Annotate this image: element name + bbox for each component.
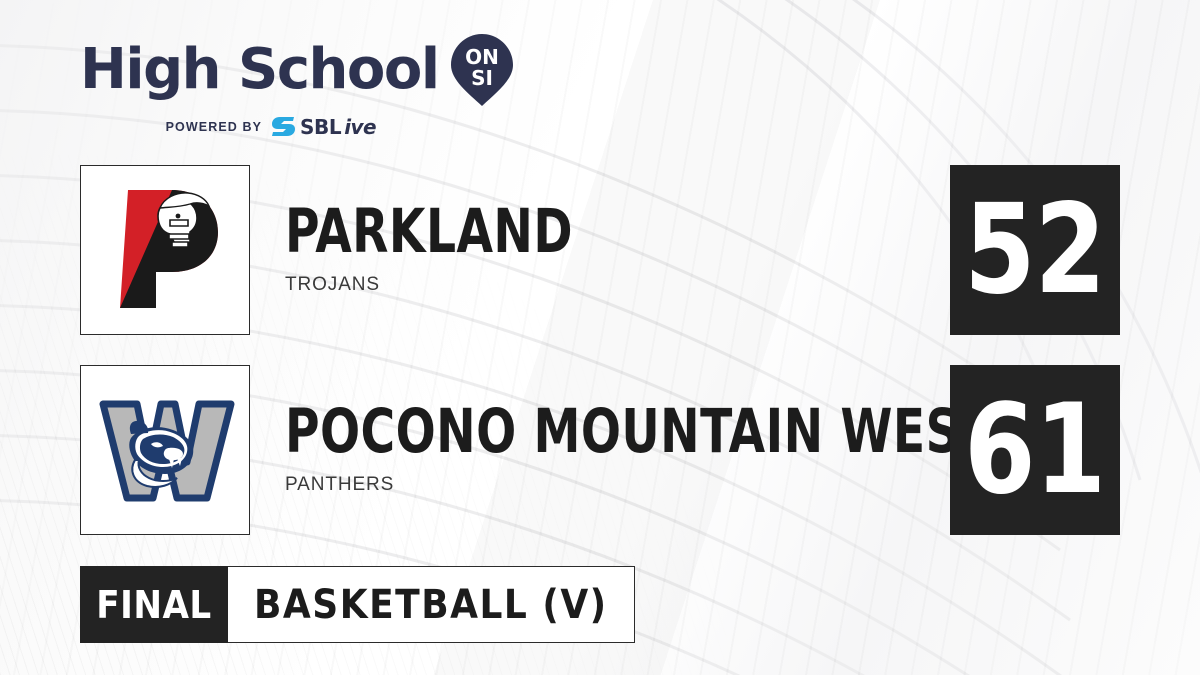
- team-name: POCONO MOUNTAIN WEST: [285, 404, 993, 461]
- team-mascot: TROJANS: [285, 274, 620, 296]
- sport-label: BASKETBALL (V): [228, 566, 635, 643]
- on-si-pin-icon: ON SI: [450, 33, 514, 107]
- sblive-suffix: ive: [344, 117, 376, 137]
- team-score: 52: [965, 188, 1106, 312]
- team-score-box: 52: [950, 165, 1120, 335]
- team-name: PARKLAND: [285, 204, 573, 261]
- sblive-logo: SBL ive: [271, 116, 376, 137]
- powered-by-row: POWERED BY SBL ive: [80, 116, 514, 137]
- high-school-on-si-logo: High School ON SI POWERED BY SBL ive: [80, 33, 514, 137]
- parkland-p-trojan-logo-icon: [100, 180, 230, 320]
- status-badge: FINAL: [80, 566, 228, 643]
- pocono-mountain-west-w-panther-logo-icon: [95, 390, 235, 510]
- sblive-s-mark-icon: [271, 116, 297, 137]
- team-info: PARKLAND TROJANS: [285, 165, 620, 335]
- score-graphic-canvas: High School ON SI POWERED BY SBL ive: [0, 0, 1200, 675]
- team-score: 61: [965, 388, 1106, 512]
- game-status-bar: FINAL BASKETBALL (V): [80, 566, 635, 643]
- powered-by-label: POWERED BY: [166, 120, 262, 134]
- sblive-name: SBL: [300, 117, 341, 137]
- pin-label-si: SI: [471, 66, 493, 90]
- team-score-box: 61: [950, 365, 1120, 535]
- team-logo-box: [80, 165, 250, 335]
- logo-wordmark: High School ON SI: [80, 33, 514, 107]
- logo-wordmark-text: High School: [80, 42, 439, 98]
- team-logo-box: [80, 365, 250, 535]
